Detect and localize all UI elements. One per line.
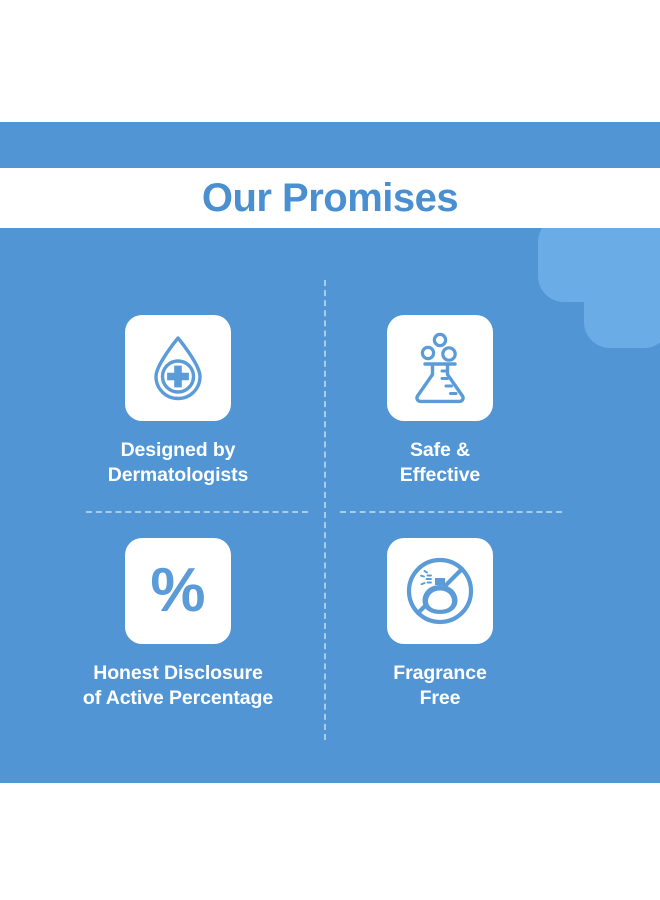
promise-label: Designed by Dermatologists (108, 438, 249, 488)
percent-icon: % (150, 560, 205, 622)
top-blue-strip (0, 122, 660, 168)
promise-label: Fragrance Free (393, 661, 486, 711)
icon-card (125, 315, 231, 421)
flask-icon (405, 331, 475, 405)
icon-card (387, 538, 493, 644)
page-title: Our Promises (202, 178, 458, 218)
promise-label: Safe & Effective (400, 438, 480, 488)
icon-card: % (125, 538, 231, 644)
promise-label: Honest Disclosure of Active Percentage (83, 661, 273, 711)
promises-panel: Designed by Dermatologists Safe & Effect… (0, 228, 660, 783)
promises-grid: Designed by Dermatologists Safe & Effect… (0, 228, 660, 783)
promise-item-designed-by-dermatologists: Designed by Dermatologists (48, 315, 308, 488)
icon-card (387, 315, 493, 421)
promise-item-honest-disclosure: % Honest Disclosure of Active Percentage (48, 538, 308, 711)
horizontal-divider-right (340, 511, 562, 513)
promises-infographic: Our Promises (0, 0, 660, 900)
droplet-plus-icon (141, 331, 215, 405)
title-band: Our Promises (0, 168, 660, 228)
horizontal-divider-left (86, 511, 308, 513)
promise-item-fragrance-free: Fragrance Free (310, 538, 570, 711)
no-fragrance-icon (402, 553, 478, 629)
promise-item-safe-and-effective: Safe & Effective (310, 315, 570, 488)
